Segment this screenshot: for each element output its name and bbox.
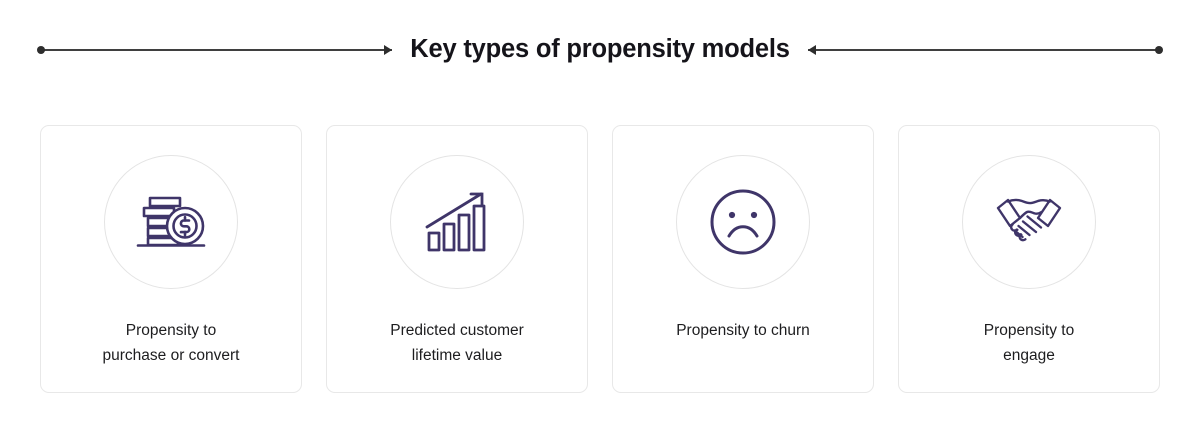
page-title: Key types of propensity models — [392, 37, 807, 63]
growth-bar-chart-arrow-icon — [424, 189, 490, 255]
coin-stack-dollar-icon — [135, 193, 207, 251]
section-header: Key types of propensity models — [0, 26, 1200, 74]
icon-circle — [104, 155, 238, 289]
handshake-icon — [992, 194, 1066, 250]
icon-circle — [962, 155, 1096, 289]
rule-line-right — [808, 49, 1162, 51]
icon-circle — [676, 155, 810, 289]
rule-arrowhead-left-icon — [384, 45, 392, 55]
rule-arrowhead-right-icon — [808, 45, 816, 55]
sad-face-icon — [708, 187, 778, 257]
decorative-rule-right — [808, 43, 1162, 57]
model-card-list: Propensity to purchase or convert Predic… — [40, 125, 1160, 393]
model-card-label: Propensity to churn — [662, 318, 824, 343]
model-card-label: Propensity to engage — [970, 318, 1088, 368]
rule-endpoint-dot-left — [37, 46, 45, 54]
propensity-models-diagram: Key types of propensity models — [0, 0, 1200, 443]
model-card-label: Predicted customer lifetime value — [376, 318, 538, 368]
model-card[interactable]: Propensity to churn — [612, 125, 874, 393]
rule-endpoint-dot-right — [1155, 46, 1163, 54]
decorative-rule-left — [38, 43, 392, 57]
rule-line-left — [38, 49, 392, 51]
model-card-label: Propensity to purchase or convert — [89, 318, 254, 368]
model-card[interactable]: Propensity to purchase or convert — [40, 125, 302, 393]
model-card[interactable]: Predicted customer lifetime value — [326, 125, 588, 393]
icon-circle — [390, 155, 524, 289]
model-card[interactable]: Propensity to engage — [898, 125, 1160, 393]
